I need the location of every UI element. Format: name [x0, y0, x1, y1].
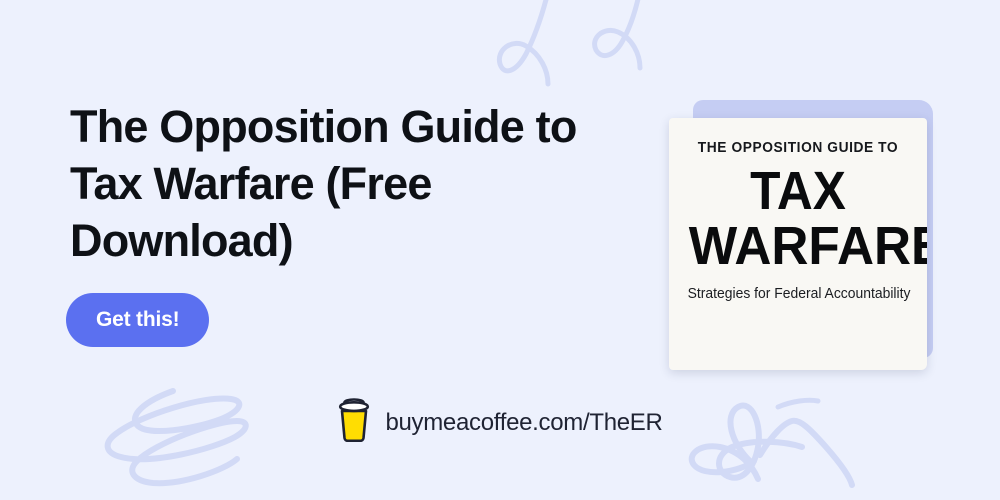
book-title-line-2: WARFARE	[689, 221, 908, 272]
book-cover-figure: THE OPPOSITION GUIDE TO TAX WARFARE Stra…	[655, 100, 940, 380]
get-this-button[interactable]: Get this!	[66, 293, 209, 347]
footer-branding: buymeacoffee.com/TheER	[0, 398, 1000, 447]
book-eyebrow: THE OPPOSITION GUIDE TO	[689, 140, 908, 156]
book-subtitle: Strategies for Federal Accountability	[688, 286, 909, 302]
promo-card: The Opposition Guide to Tax Warfare (Fre…	[0, 0, 1000, 500]
footer-url: buymeacoffee.com/TheER	[385, 409, 662, 437]
book-cover: THE OPPOSITION GUIDE TO TAX WARFARE Stra…	[669, 118, 927, 370]
page-title: The Opposition Guide to Tax Warfare (Fre…	[70, 98, 615, 269]
squiggle-loops-icon	[490, 0, 690, 110]
coffee-cup-icon	[337, 398, 371, 447]
book-title-line-1: TAX	[692, 166, 904, 217]
